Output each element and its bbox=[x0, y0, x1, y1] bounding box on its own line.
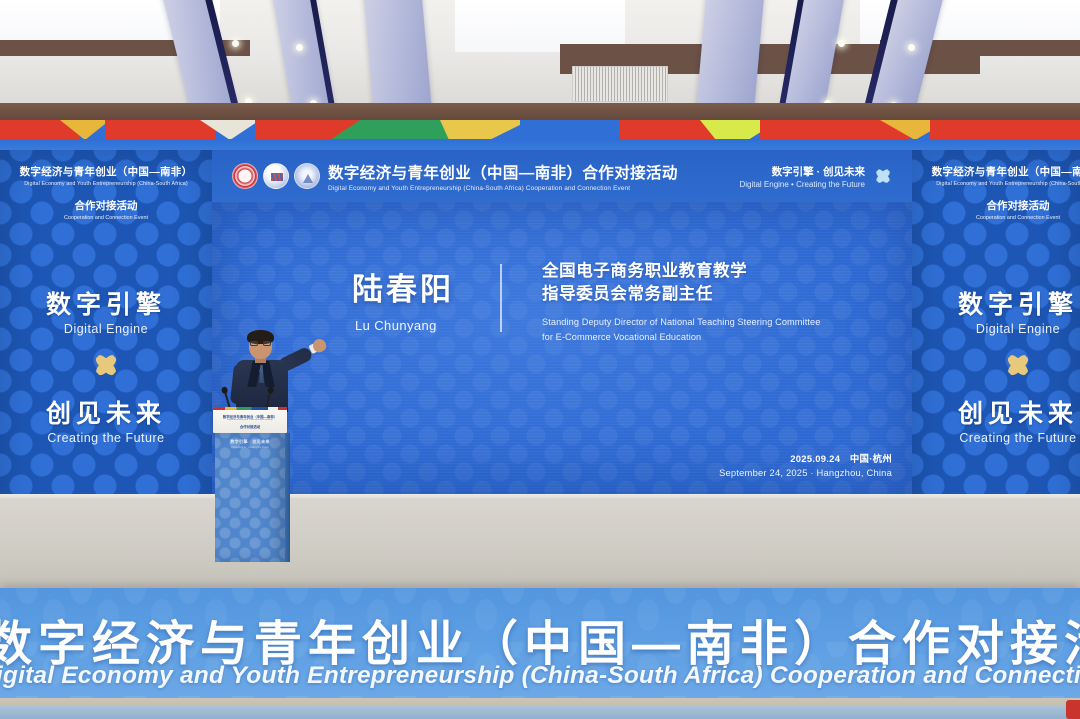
podium-top-panel: 数字经济与青年创业（中国—南非） Digital Economy and You… bbox=[213, 407, 287, 433]
speaker-name-block: 陆春阳 Lu Chunyang bbox=[352, 264, 454, 333]
organizer-logo-red-icon bbox=[232, 163, 258, 189]
side-banner-slogan-top-cn: 数字引擎 bbox=[8, 285, 204, 321]
podium-logo-en: Digital Engine Creating the Future bbox=[215, 445, 285, 449]
ceiling-downlight bbox=[838, 40, 845, 47]
organizer-logo-ecu-icon bbox=[263, 163, 289, 189]
speaker-person bbox=[222, 330, 322, 412]
event-date-en: September 24, 2025 · Hangzhou, China bbox=[719, 467, 892, 478]
side-banner-slogan-bottom-cn: 创见未来 bbox=[8, 394, 204, 430]
speaker-title-cn-line2: 指导委员会常务副主任 bbox=[542, 283, 832, 306]
side-banner-subtitle-cn: 合作对接活动 bbox=[920, 198, 1080, 213]
event-date-block: 2025.09.24 中国·杭州 September 24, 2025 · Ha… bbox=[719, 451, 892, 478]
speaker-title-cn-line1: 全国电子商务职业教育教学 bbox=[542, 260, 832, 283]
podium-subtitle-cn: 合作对接活动 bbox=[217, 424, 283, 429]
header-title-cn: 数字经济与青年创业（中国—南非）合作对接活动 bbox=[328, 161, 678, 183]
header-titles: 数字经济与青年创业（中国—南非）合作对接活动 Digital Economy a… bbox=[328, 161, 678, 192]
ceiling bbox=[0, 0, 1080, 124]
side-banner-slogan-bottom-en: Creating the Future bbox=[8, 431, 204, 445]
header-slogan-group: 数字引擎 · 创见未来 Digital Engine • Creating th… bbox=[739, 163, 896, 189]
side-banner-slogan-top-en: Digital Engine bbox=[920, 322, 1080, 336]
organizer-logos bbox=[232, 163, 320, 189]
side-banner-slogan-bottom-cn: 创见未来 bbox=[920, 394, 1080, 430]
podium-color-strip bbox=[213, 407, 287, 410]
speaker-title-en: Standing Deputy Director of National Tea… bbox=[542, 315, 832, 345]
header-slogan-en: Digital Engine • Creating the Future bbox=[739, 180, 865, 189]
ceiling-downlight bbox=[296, 44, 303, 51]
side-banner-title-cn: 数字经济与青年创业（中国—南非） bbox=[920, 164, 1080, 179]
x-logo-icon bbox=[84, 344, 128, 386]
podium-side-face bbox=[285, 433, 290, 562]
ceiling-downlight bbox=[232, 40, 239, 47]
speaker-title-block: 全国电子商务职业教育教学 指导委员会常务副主任 Standing Deputy … bbox=[542, 260, 832, 345]
decorative-color-strip bbox=[0, 120, 1080, 154]
side-banner-subtitle-en: Cooperation and Connection Event bbox=[8, 215, 204, 221]
side-banner-slogan-top-en: Digital Engine bbox=[8, 322, 204, 336]
x-logo-icon bbox=[870, 163, 896, 189]
side-banner-slogan-top-cn: 数字引擎 bbox=[920, 285, 1080, 321]
side-banner-slogan-bottom-en: Creating the Future bbox=[920, 431, 1080, 445]
speaker-glasses-icon bbox=[250, 341, 271, 346]
bottom-stage-banner: 数字经济与青年创业（中国—南非）合作对接活动 Digital Economy a… bbox=[0, 588, 1080, 698]
air-vent bbox=[572, 66, 668, 102]
banner-foot-blue-trim bbox=[0, 706, 1080, 719]
organizer-logo-university-icon bbox=[294, 163, 320, 189]
header-slogan-cn: 数字引擎 · 创见未来 bbox=[739, 164, 865, 179]
stage-floor bbox=[0, 498, 1080, 590]
podium-title-en: Digital Economy and Youth Entrepreneursh… bbox=[217, 419, 283, 421]
side-banner-title-en: Digital Economy and Youth Entrepreneursh… bbox=[920, 181, 1080, 187]
podium-body: 数字引擎 创见未来 Digital Engine Creating the Fu… bbox=[215, 433, 285, 562]
header-title-en: Digital Economy and Youth Entrepreneursh… bbox=[328, 185, 678, 192]
bottom-banner-title-en: Digital Economy and Youth Entrepreneursh… bbox=[0, 662, 1080, 690]
vertical-divider bbox=[500, 264, 502, 332]
speaker-name-en: Lu Chunyang bbox=[352, 318, 454, 333]
speaker-name-cn: 陆春阳 bbox=[352, 264, 454, 309]
event-header-bar: 数字经济与青年创业（中国—南非）合作对接活动 Digital Economy a… bbox=[212, 150, 912, 202]
side-banner-title-cn: 数字经济与青年创业（中国—南非） bbox=[8, 164, 204, 179]
conference-stage-scene: 数字经济与青年创业（中国—南非） Digital Economy and You… bbox=[0, 0, 1080, 719]
side-banner-subtitle-cn: 合作对接活动 bbox=[8, 198, 204, 213]
banner-foot-red-marker bbox=[1066, 700, 1080, 719]
podium: 数字经济与青年创业（中国—南非） Digital Economy and You… bbox=[213, 407, 287, 562]
ceiling-downlight bbox=[908, 44, 915, 51]
side-banner-title-en: Digital Economy and Youth Entrepreneursh… bbox=[8, 181, 204, 187]
event-date-cn: 2025.09.24 中国·杭州 bbox=[719, 451, 892, 465]
side-banner-subtitle-en: Cooperation and Connection Event bbox=[920, 215, 1080, 221]
x-logo-icon bbox=[996, 344, 1040, 386]
